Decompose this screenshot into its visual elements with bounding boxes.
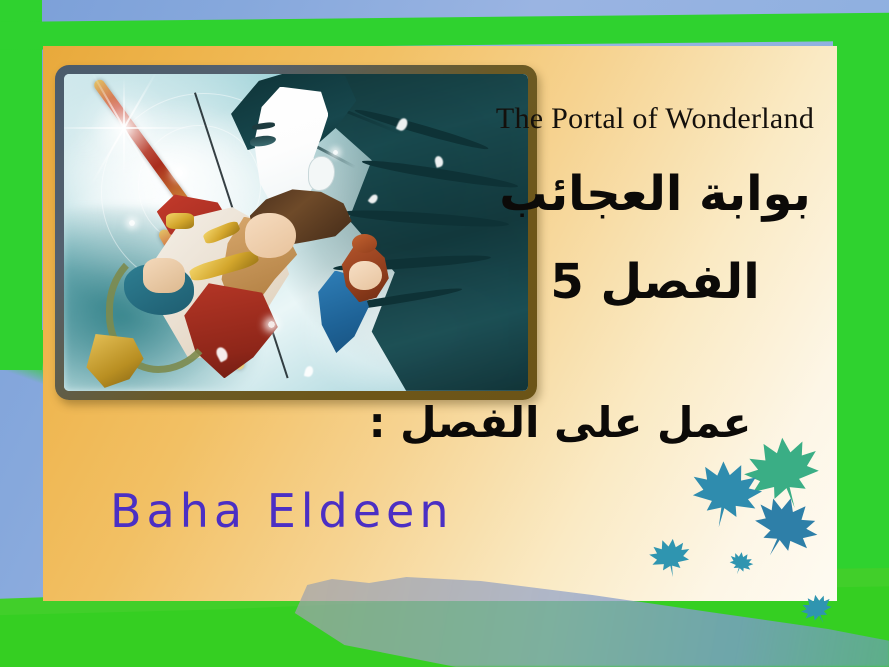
credit-label-arabic: عمل على الفصل : [360,402,760,444]
title-english: The Portal of Wonderland [455,102,855,136]
title-arabic: بوابة العجائب [455,170,855,218]
artwork-boy-face [245,213,296,257]
artwork-girl-bun [352,234,378,253]
artwork-boy-clasp [166,213,194,229]
artwork-light-mote [129,220,135,226]
artwork-girl-face [349,261,381,290]
credit-name: Baha Eldeen [110,484,454,538]
artwork-bow-ray [64,127,199,129]
green-band-left [0,0,42,370]
presentation-slide: The Portal of Wonderland بوابة العجائب ا… [0,0,889,667]
leaf-teal-small [645,532,695,582]
chapter-label-arabic: الفصل 5 [455,258,855,306]
